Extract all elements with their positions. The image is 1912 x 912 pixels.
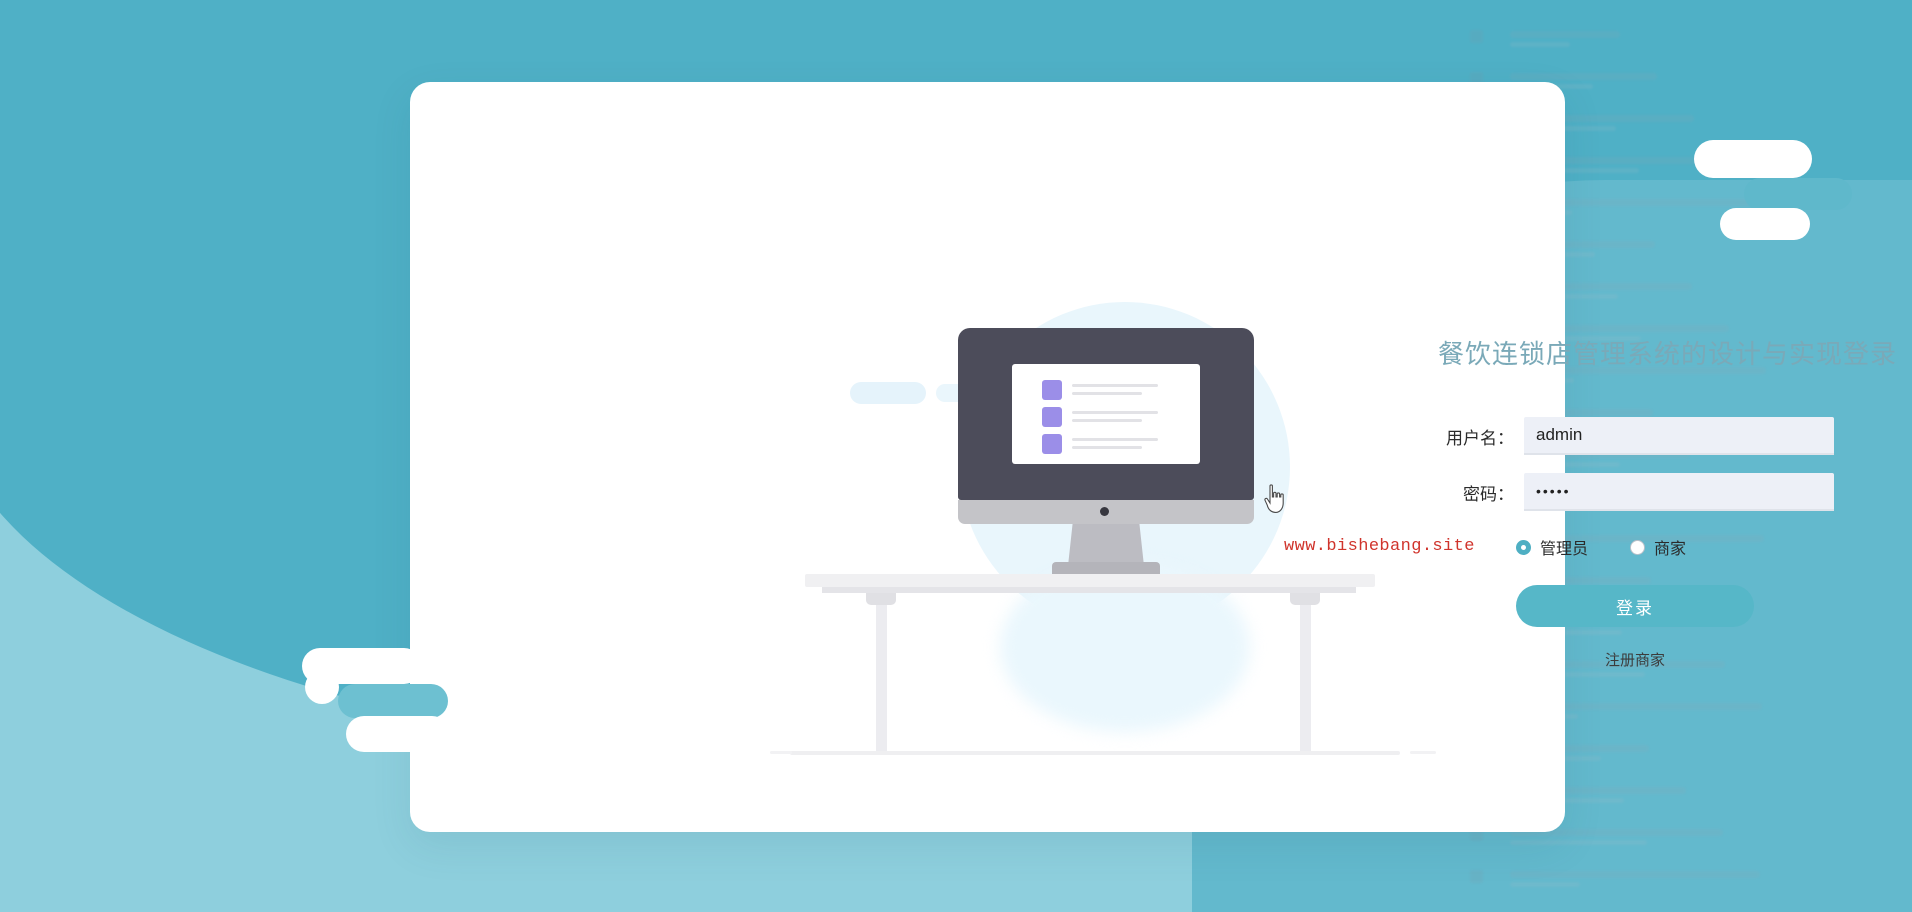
password-input[interactable] bbox=[1524, 473, 1834, 511]
floor-line bbox=[790, 751, 1400, 755]
monitor-stand-neck bbox=[1068, 524, 1144, 566]
floor-line-dash bbox=[770, 751, 792, 754]
screen-item-line bbox=[1072, 384, 1158, 387]
role-selector: 管理员 商家 bbox=[1516, 535, 1892, 559]
role-option-merchant-label: 商家 bbox=[1654, 535, 1686, 559]
desk-leg bbox=[1300, 605, 1311, 753]
login-button[interactable]: 登录 bbox=[1516, 585, 1754, 627]
role-option-admin[interactable]: 管理员 bbox=[1516, 535, 1588, 559]
radio-admin-icon[interactable] bbox=[1516, 540, 1531, 555]
screen-item-square-icon bbox=[1042, 380, 1062, 400]
login-page: www.bishebang.site 餐饮连锁店管理系统的设计与实现登录 用户名… bbox=[0, 0, 1912, 912]
login-form: 餐饮连锁店管理系统的设计与实现登录 用户名： 密码： 管理员 商家 登录 bbox=[1422, 334, 1892, 670]
username-label: 用户名： bbox=[1422, 424, 1524, 449]
password-row: 密码： bbox=[1422, 473, 1892, 511]
monitor-power-dot-icon bbox=[1100, 507, 1109, 516]
register-merchant-link[interactable]: 注册商家 bbox=[1516, 649, 1754, 670]
screen-item-line bbox=[1072, 411, 1158, 414]
screen-item-line bbox=[1072, 438, 1158, 441]
desk-edge bbox=[822, 587, 1356, 593]
screen-list-item bbox=[1042, 434, 1192, 456]
screen-list-item bbox=[1042, 407, 1192, 429]
login-illustration bbox=[840, 262, 1400, 782]
page-title: 餐饮连锁店管理系统的设计与实现登录 bbox=[1438, 334, 1892, 371]
desk-bracket bbox=[1290, 593, 1320, 605]
role-option-merchant[interactable]: 商家 bbox=[1630, 535, 1686, 559]
halo-pill-icon bbox=[850, 382, 926, 404]
username-row: 用户名： bbox=[1422, 417, 1892, 455]
password-label: 密码： bbox=[1422, 480, 1524, 505]
desk-leg bbox=[876, 605, 887, 753]
screen-item-line bbox=[1072, 392, 1142, 395]
screen-item-square-icon bbox=[1042, 434, 1062, 454]
monitor-icon bbox=[958, 328, 1254, 500]
role-option-admin-label: 管理员 bbox=[1540, 535, 1588, 559]
desk-top bbox=[805, 574, 1375, 587]
screen-item-square-icon bbox=[1042, 407, 1062, 427]
floor-line-dash bbox=[1410, 751, 1436, 754]
screen-list-item bbox=[1042, 380, 1192, 402]
desk-bracket bbox=[866, 593, 896, 605]
screen-item-line bbox=[1072, 419, 1142, 422]
radio-merchant-icon[interactable] bbox=[1630, 540, 1645, 555]
username-input[interactable] bbox=[1524, 417, 1834, 455]
login-card: www.bishebang.site 餐饮连锁店管理系统的设计与实现登录 用户名… bbox=[410, 82, 1565, 832]
screen-item-line bbox=[1072, 446, 1142, 449]
monitor-screen bbox=[1012, 364, 1200, 464]
